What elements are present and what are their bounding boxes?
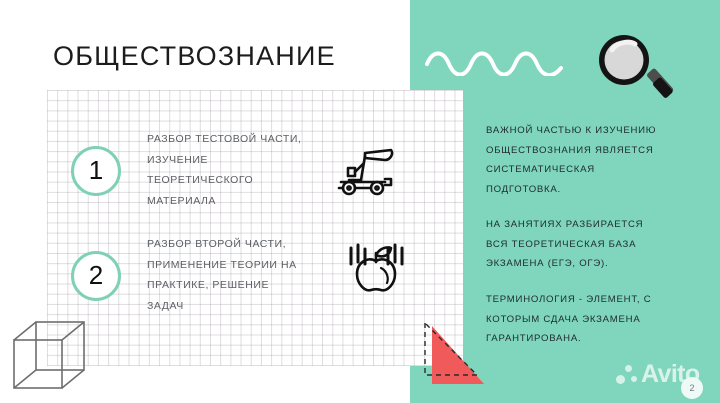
list-number-1: 1: [89, 157, 103, 183]
list-item-line: РАЗБОР ВТОРОЙ ЧАСТИ,: [147, 234, 362, 255]
wireframe-cube-icon: [10, 318, 102, 403]
list-item-line: ПРИМЕНЕНИЕ ТЕОРИИ НА: [147, 255, 362, 276]
avito-wordmark: Avito: [641, 362, 700, 387]
paragraph-line: ГАРАНТИРОВАНА.: [486, 329, 704, 349]
list-item-line: МАТЕРИАЛА: [147, 191, 362, 212]
list-item-line: ПРАКТИКЕ, РЕШЕНИЕ: [147, 275, 362, 296]
paragraph-line: ТЕРМИНОЛОГИЯ - ЭЛЕМЕНТ, С: [486, 290, 704, 310]
panel-paragraph-3: ТЕРМИНОЛОГИЯ - ЭЛЕМЕНТ, С КОТОРЫМ СДАЧА …: [486, 290, 704, 349]
paragraph-line: ВСЯ ТЕОРЕТИЧЕСКАЯ БАЗА: [486, 235, 704, 255]
magnifier-icon: [590, 28, 680, 115]
list-item-line: ЗАДАЧ: [147, 296, 362, 317]
list-item-line: ИЗУЧЕНИЕ: [147, 150, 362, 171]
list-item-text-2: РАЗБОР ВТОРОЙ ЧАСТИ, ПРИМЕНЕНИЕ ТЕОРИИ Н…: [147, 234, 362, 316]
avito-watermark: Avito: [616, 362, 700, 387]
dashed-triangle-outline: [420, 318, 490, 388]
list-item-text-1: РАЗБОР ТЕСТОВОЙ ЧАСТИ, ИЗУЧЕНИЕ ТЕОРЕТИЧ…: [147, 129, 362, 211]
paragraph-line: КОТОРЫМ СДАЧА ЭКЗАМЕНА: [486, 310, 704, 330]
slide-canvas: ОБЩЕСТВОЗНАНИЕ 1 РАЗБОР ТЕСТОВОЙ ЧАСТИ, …: [0, 0, 720, 403]
list-item-line: РАЗБОР ТЕСТОВОЙ ЧАСТИ,: [147, 129, 362, 150]
paragraph-line: ОБЩЕСТВОЗНАНИЯ ЯВЛЯЕТСЯ: [486, 141, 704, 161]
list-number-circle-2: 2: [71, 251, 121, 301]
paragraph-line: ЭКЗАМЕНА (ЕГЭ, ОГЭ).: [486, 254, 704, 274]
paragraph-line: СИСТЕМАТИЧЕСКАЯ: [486, 160, 704, 180]
page-title: ОБЩЕСТВОЗНАНИЕ: [53, 41, 336, 72]
list-item-line: ТЕОРЕТИЧЕСКОГО: [147, 170, 362, 191]
panel-paragraph-2: НА ЗАНЯТИЯХ РАЗБИРАЕТСЯ ВСЯ ТЕОРЕТИЧЕСКА…: [486, 215, 704, 274]
catapult-icon: [335, 146, 397, 203]
panel-paragraph-1: ВАЖНОЙ ЧАСТЬЮ К ИЗУЧЕНИЮ ОБЩЕСТВОЗНАНИЯ …: [486, 121, 704, 199]
apple-icon: [345, 238, 407, 301]
paragraph-line: НА ЗАНЯТИЯХ РАЗБИРАЕТСЯ: [486, 215, 704, 235]
list-number-2: 2: [89, 262, 103, 288]
list-number-circle-1: 1: [71, 146, 121, 196]
paragraph-line: ПОДГОТОВКА.: [486, 180, 704, 200]
paragraph-line: ВАЖНОЙ ЧАСТЬЮ К ИЗУЧЕНИЮ: [486, 121, 704, 141]
wave-line: [425, 48, 565, 81]
avito-dots-icon: [616, 365, 638, 385]
